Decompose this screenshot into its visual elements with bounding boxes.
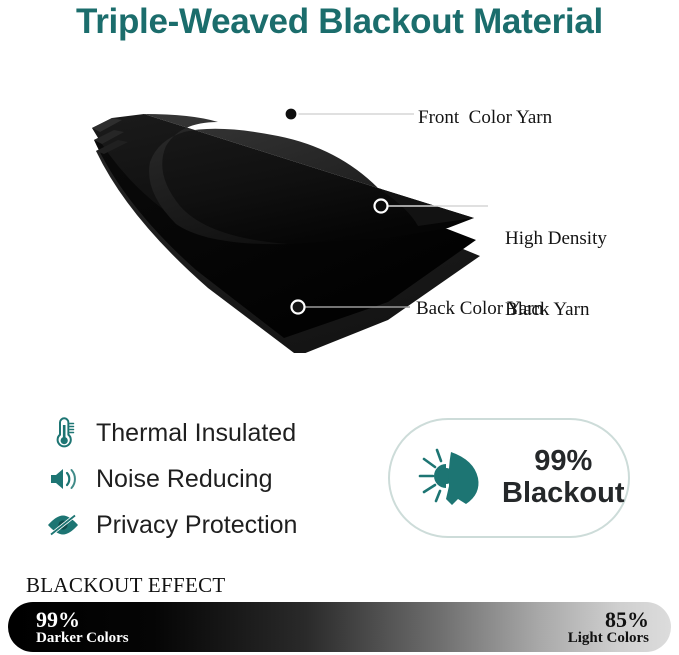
feature-item-thermal-insulated: Thermal Insulated — [42, 410, 372, 456]
effect-bar-left-end: 99% Darker Colors — [36, 608, 129, 647]
blackout-badge-percent: 99% — [502, 446, 624, 478]
feature-list: Thermal Insulated Noise Reducing Privacy… — [42, 410, 372, 548]
speaker-sound-icon — [42, 460, 84, 498]
callout-label-front: Front Color Yarn — [418, 106, 552, 130]
callout-leader-front — [285, 108, 415, 121]
effect-bar-right-percent: 85% — [568, 608, 649, 631]
feature-label-noise-reducing: Noise Reducing — [96, 465, 273, 494]
feature-label-thermal-insulated: Thermal Insulated — [96, 419, 296, 448]
feature-label-privacy-protection: Privacy Protection — [96, 511, 297, 540]
page-title: Triple-Weaved Blackout Material — [0, 2, 679, 42]
feature-item-noise-reducing: Noise Reducing — [42, 456, 372, 502]
blackout-effect-gradient-bar: 99% Darker Colors 85% Light Colors — [8, 602, 671, 652]
effect-bar-right-label: Light Colors — [568, 631, 649, 647]
callout-label-high-density-line1: High Density — [505, 227, 607, 251]
callout-label-back: Back Color Yarn — [416, 297, 543, 321]
blackout-badge-text: 99% Blackout — [502, 446, 630, 510]
effect-bar-left-label: Darker Colors — [36, 631, 129, 647]
effect-bar-right-end: 85% Light Colors — [568, 608, 649, 647]
feature-item-privacy-protection: Privacy Protection — [42, 502, 372, 548]
effect-bar-left-percent: 99% — [36, 608, 129, 631]
eye-slash-icon — [42, 506, 84, 544]
sun-behind-curtain-icon — [390, 442, 502, 514]
blackout-badge: 99% Blackout — [388, 418, 630, 538]
blackout-effect-heading: BLACKOUT EFFECT — [26, 573, 226, 598]
thermometer-icon — [42, 414, 84, 452]
blackout-badge-label: Blackout — [502, 478, 624, 510]
